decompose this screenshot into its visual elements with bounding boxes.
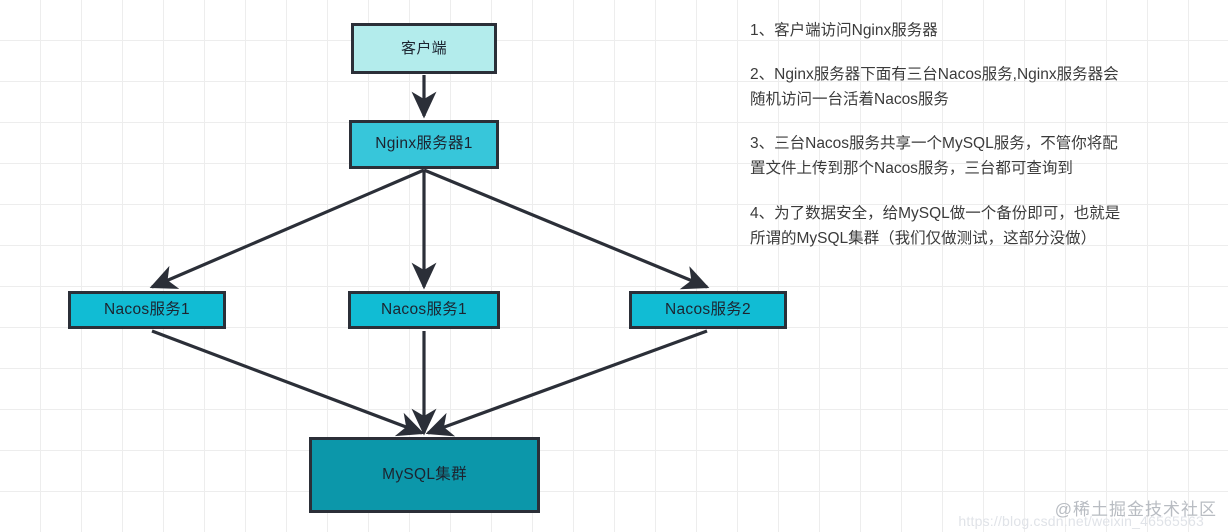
note-item-2: 2、Nginx服务器下面有三台Nacos服务,Nginx服务器会 随机访问一台活… bbox=[750, 62, 1220, 112]
node-client[interactable]: 客户端 bbox=[351, 23, 497, 74]
node-nacos-service-right-label: Nacos服务2 bbox=[665, 301, 751, 320]
node-nacos-service-center[interactable]: Nacos服务1 bbox=[348, 291, 500, 329]
edge-nginx-to-nacos1 bbox=[152, 170, 424, 287]
node-nacos-service-right[interactable]: Nacos服务2 bbox=[629, 291, 787, 329]
edge-nginx-to-nacos3 bbox=[424, 170, 707, 287]
note-item-3: 3、三台Nacos服务共享一个MySQL服务，不管你将配 置文件上传到那个Nac… bbox=[750, 131, 1220, 181]
node-nacos-service-left[interactable]: Nacos服务1 bbox=[68, 291, 226, 329]
node-nacos-service-left-label: Nacos服务1 bbox=[104, 301, 190, 320]
edge-nacos3-to-mysql bbox=[428, 331, 707, 433]
node-nginx-server[interactable]: Nginx服务器1 bbox=[349, 120, 499, 169]
notes-list: 1、客户端访问Nginx服务器 2、Nginx服务器下面有三台Nacos服务,N… bbox=[750, 18, 1220, 251]
node-mysql-cluster-label: MySQL集群 bbox=[382, 466, 467, 485]
node-nginx-server-label: Nginx服务器1 bbox=[375, 135, 472, 154]
diagram-canvas: 客户端 Nginx服务器1 Nacos服务1 Nacos服务1 Nacos服务2… bbox=[0, 0, 1228, 532]
node-nacos-service-center-label: Nacos服务1 bbox=[381, 301, 467, 320]
edge-nacos1-to-mysql bbox=[152, 331, 422, 433]
node-client-label: 客户端 bbox=[401, 40, 447, 58]
note-item-1: 1、客户端访问Nginx服务器 bbox=[750, 18, 1220, 43]
note-item-4: 4、为了数据安全，给MySQL做一个备份即可，也就是 所谓的MySQL集群（我们… bbox=[750, 201, 1220, 251]
watermark-juejin: @稀土掘金技术社区 bbox=[1055, 495, 1217, 520]
node-mysql-cluster[interactable]: MySQL集群 bbox=[309, 437, 540, 513]
